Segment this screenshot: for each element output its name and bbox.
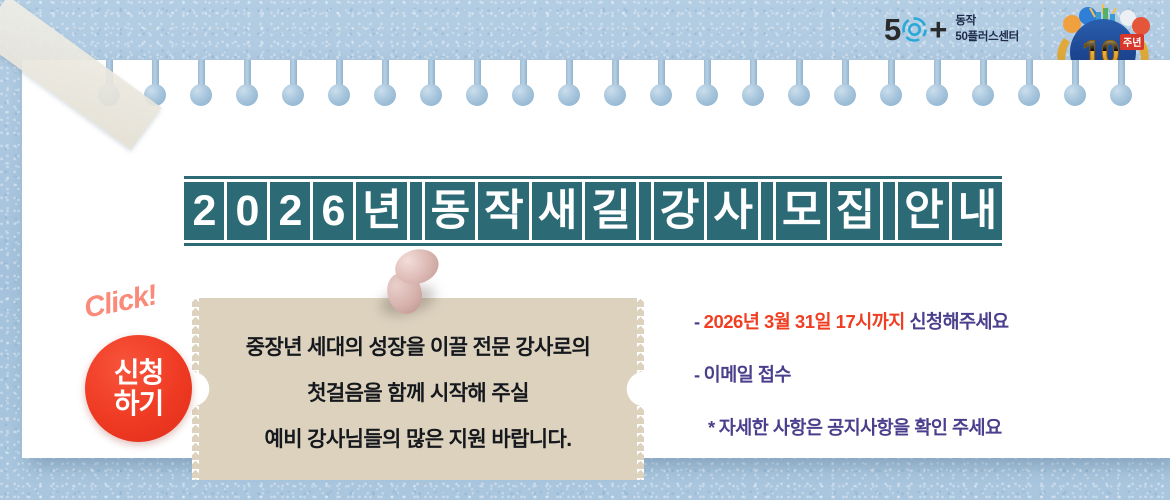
title-cell: 길 — [585, 182, 636, 240]
svg-text:주년: 주년 — [1123, 36, 1141, 49]
hanging-pin-icon — [1110, 60, 1132, 106]
title-cell-space — [410, 182, 422, 240]
title-cell-space — [883, 182, 895, 240]
title-cell: 2 — [184, 182, 224, 240]
title-cell: 새 — [532, 182, 583, 240]
hanging-pin-icon — [374, 60, 396, 106]
hanging-pin-icon — [328, 60, 350, 106]
info-list: -2026년 3월 31일 17시까지 신청해주세요 -이메일 접수 *자세한 … — [694, 308, 1009, 440]
logo-org-line1: 동작 — [955, 14, 1019, 29]
title-cell: 년 — [356, 182, 407, 240]
hanging-pin-icon — [1018, 60, 1040, 106]
logo-mark: 5 + — [884, 14, 946, 45]
title-cell: 동 — [425, 182, 476, 240]
info-item-deadline: -2026년 3월 31일 17시까지 신청해주세요 — [694, 308, 1009, 334]
title-cell: 작 — [478, 182, 529, 240]
hanging-pin-icon — [742, 60, 764, 106]
apply-button-line1: 신청 — [114, 358, 164, 388]
hanging-pin-icon — [512, 60, 534, 106]
apply-button[interactable]: 신청 하기 — [85, 335, 192, 442]
hanging-pin-icon — [190, 60, 212, 106]
bullet-text: 자세한 사항은 공지사항을 확인 주세요 — [719, 417, 1002, 438]
title-cell: 모 — [776, 182, 827, 240]
title-cell: 안 — [898, 182, 949, 240]
bullet-mark: - — [694, 364, 700, 385]
title-cell: 2 — [270, 182, 310, 240]
page-title: 2 0 2 6 년 동 작 새 길 강 사 모 집 안 내 — [184, 176, 1002, 246]
title-cell: 0 — [227, 182, 267, 240]
logo-50plus: 5 + 동작 50플러스센터 — [884, 14, 1019, 45]
bullet-mark: * — [708, 417, 715, 438]
hanging-pin-icon — [972, 60, 994, 106]
apply-button-line2: 하기 — [114, 389, 164, 419]
title-cell: 사 — [707, 182, 758, 240]
title-cell: 집 — [830, 182, 881, 240]
bullet-highlight: 2026년 3월 31일 17시까지 — [704, 311, 905, 332]
hanging-pin-icon — [466, 60, 488, 106]
title-cell: 내 — [952, 182, 1003, 240]
title-cell-space — [639, 182, 651, 240]
hanging-pin-icon — [788, 60, 810, 106]
ticket-message: 중장년 세대의 성장을 이끌 전문 강사로의 첫걸음을 함께 시작해 주실 예비… — [192, 298, 644, 480]
ticket-panel: 중장년 세대의 성장을 이끌 전문 강사로의 첫걸음을 함께 시작해 주실 예비… — [192, 298, 644, 480]
ticket-line: 중장년 세대의 성장을 이끌 전문 강사로의 — [246, 331, 590, 361]
hanging-pin-icon — [834, 60, 856, 106]
hanging-pin-icon — [282, 60, 304, 106]
hanging-pin-icon — [1064, 60, 1086, 106]
pin-row — [22, 60, 1170, 108]
white-card: 2 0 2 6 년 동 작 새 길 강 사 모 집 안 내 중장년 세대 — [22, 60, 1170, 458]
hanging-pin-icon — [880, 60, 902, 106]
logo-org-text: 동작 50플러스센터 — [955, 14, 1019, 44]
hanging-pin-icon — [650, 60, 672, 106]
ring-zero-icon — [901, 16, 928, 43]
hanging-pin-icon — [604, 60, 626, 106]
bullet-text: 이메일 접수 — [704, 364, 791, 385]
hanging-pin-icon — [236, 60, 258, 106]
logo-org-line2: 50플러스센터 — [955, 30, 1019, 45]
hanging-pin-icon — [420, 60, 442, 106]
info-item-note: *자세한 사항은 공지사항을 확인 주세요 — [708, 414, 1009, 440]
bullet-text: 신청해주세요 — [905, 311, 1009, 332]
hanging-pin-icon — [926, 60, 948, 106]
info-item-email: -이메일 접수 — [694, 361, 1009, 387]
title-cell-space — [761, 182, 773, 240]
logo-plus: + — [929, 14, 946, 45]
click-label: Click! — [82, 279, 160, 325]
title-cell: 6 — [313, 182, 353, 240]
hanging-pin-icon — [696, 60, 718, 106]
logo-number: 5 — [884, 14, 900, 45]
ticket-line: 첫걸음을 함께 시작해 주실 — [307, 377, 529, 407]
bullet-mark: - — [694, 311, 700, 332]
hanging-pin-icon — [558, 60, 580, 106]
promo-banner: 5 + 동작 50플러스센터 — [0, 0, 1170, 500]
title-cell: 강 — [654, 182, 705, 240]
ticket-line: 예비 강사님들의 많은 지원 바랍니다. — [265, 423, 572, 453]
